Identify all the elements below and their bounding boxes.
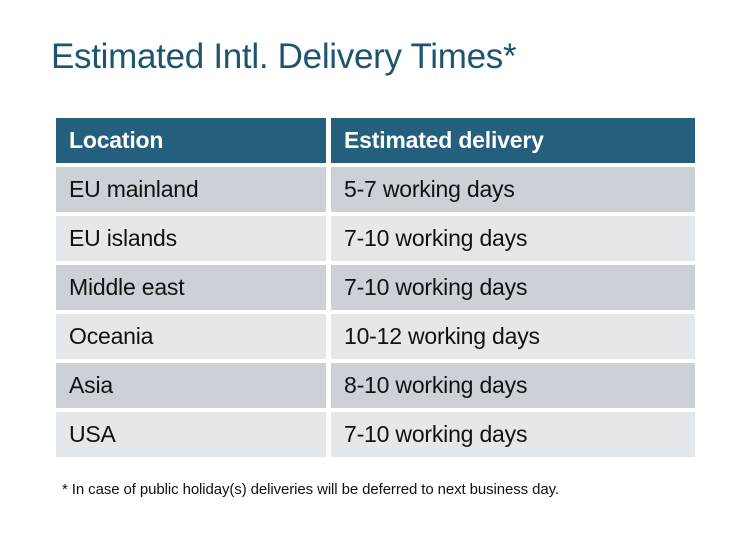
table-row: EU islands 7-10 working days <box>56 216 695 261</box>
cell-delivery: 8-10 working days <box>331 363 695 408</box>
cell-location-label: Middle east <box>56 265 326 310</box>
cell-delivery-label: 7-10 working days <box>331 265 695 310</box>
cell-delivery-label: 7-10 working days <box>331 216 695 261</box>
table-header-row: Location Estimated delivery <box>56 118 695 163</box>
cell-location: EU islands <box>56 216 326 261</box>
cell-location-label: EU mainland <box>56 167 326 212</box>
cell-location-label: EU islands <box>56 216 326 261</box>
cell-location: EU mainland <box>56 167 326 212</box>
cell-location-label: Asia <box>56 363 326 408</box>
table-header: Location Estimated delivery <box>56 118 695 163</box>
column-header-location: Location <box>56 118 326 163</box>
cell-delivery: 5-7 working days <box>331 167 695 212</box>
cell-location: Middle east <box>56 265 326 310</box>
footnote: * In case of public holiday(s) deliverie… <box>62 481 559 498</box>
cell-delivery-label: 10-12 working days <box>331 314 695 359</box>
cell-location-label: USA <box>56 412 326 457</box>
cell-delivery: 10-12 working days <box>331 314 695 359</box>
table-row: Asia 8-10 working days <box>56 363 695 408</box>
cell-delivery-label: 8-10 working days <box>331 363 695 408</box>
delivery-times-page: Estimated Intl. Delivery Times* Location… <box>0 0 745 536</box>
cell-location-label: Oceania <box>56 314 326 359</box>
cell-location: Asia <box>56 363 326 408</box>
table-row: Oceania 10-12 working days <box>56 314 695 359</box>
cell-delivery: 7-10 working days <box>331 265 695 310</box>
delivery-times-table: Location Estimated delivery EU mainland … <box>51 114 700 461</box>
cell-delivery: 7-10 working days <box>331 412 695 457</box>
column-header-delivery: Estimated delivery <box>331 118 695 163</box>
page-title: Estimated Intl. Delivery Times* <box>51 36 516 78</box>
table-row: EU mainland 5-7 working days <box>56 167 695 212</box>
cell-location: Oceania <box>56 314 326 359</box>
column-header-delivery-label: Estimated delivery <box>331 118 695 163</box>
cell-delivery-label: 7-10 working days <box>331 412 695 457</box>
table-row: Middle east 7-10 working days <box>56 265 695 310</box>
table-body: EU mainland 5-7 working days EU islands … <box>56 167 695 457</box>
table-row: USA 7-10 working days <box>56 412 695 457</box>
cell-delivery: 7-10 working days <box>331 216 695 261</box>
cell-delivery-label: 5-7 working days <box>331 167 695 212</box>
cell-location: USA <box>56 412 326 457</box>
column-header-location-label: Location <box>56 118 326 163</box>
